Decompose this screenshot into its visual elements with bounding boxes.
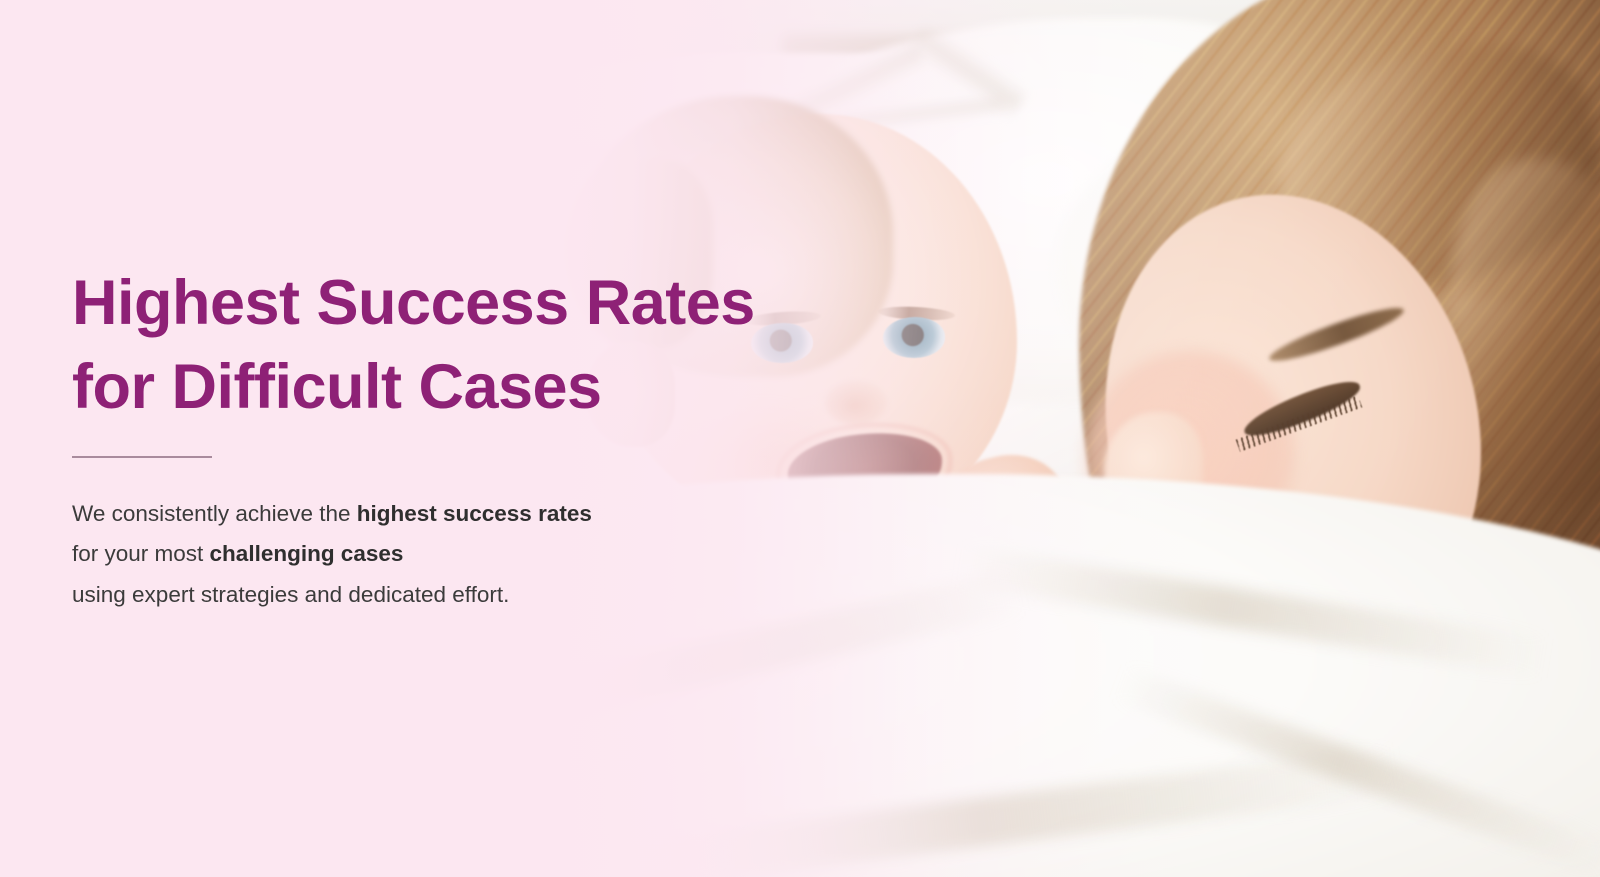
description-emphasis: challenging cases xyxy=(210,541,404,566)
hero-description: We consistently achieve the highest succ… xyxy=(72,494,772,617)
description-line: using expert strategies and dedicated ef… xyxy=(72,575,772,616)
description-line: for your most challenging cases xyxy=(72,534,772,575)
description-emphasis: highest success rates xyxy=(357,501,592,526)
description-text: We consistently achieve the xyxy=(72,501,357,526)
hero-banner: Highest Success Rates for Difficult Case… xyxy=(0,0,1600,877)
title-divider xyxy=(72,456,212,458)
hero-content: Highest Success Rates for Difficult Case… xyxy=(72,0,772,877)
page-title: Highest Success Rates for Difficult Case… xyxy=(72,261,772,430)
description-text: using expert strategies and dedicated ef… xyxy=(72,582,509,607)
description-line: We consistently achieve the highest succ… xyxy=(72,494,772,535)
description-text: for your most xyxy=(72,541,210,566)
baby-eye xyxy=(883,317,945,357)
